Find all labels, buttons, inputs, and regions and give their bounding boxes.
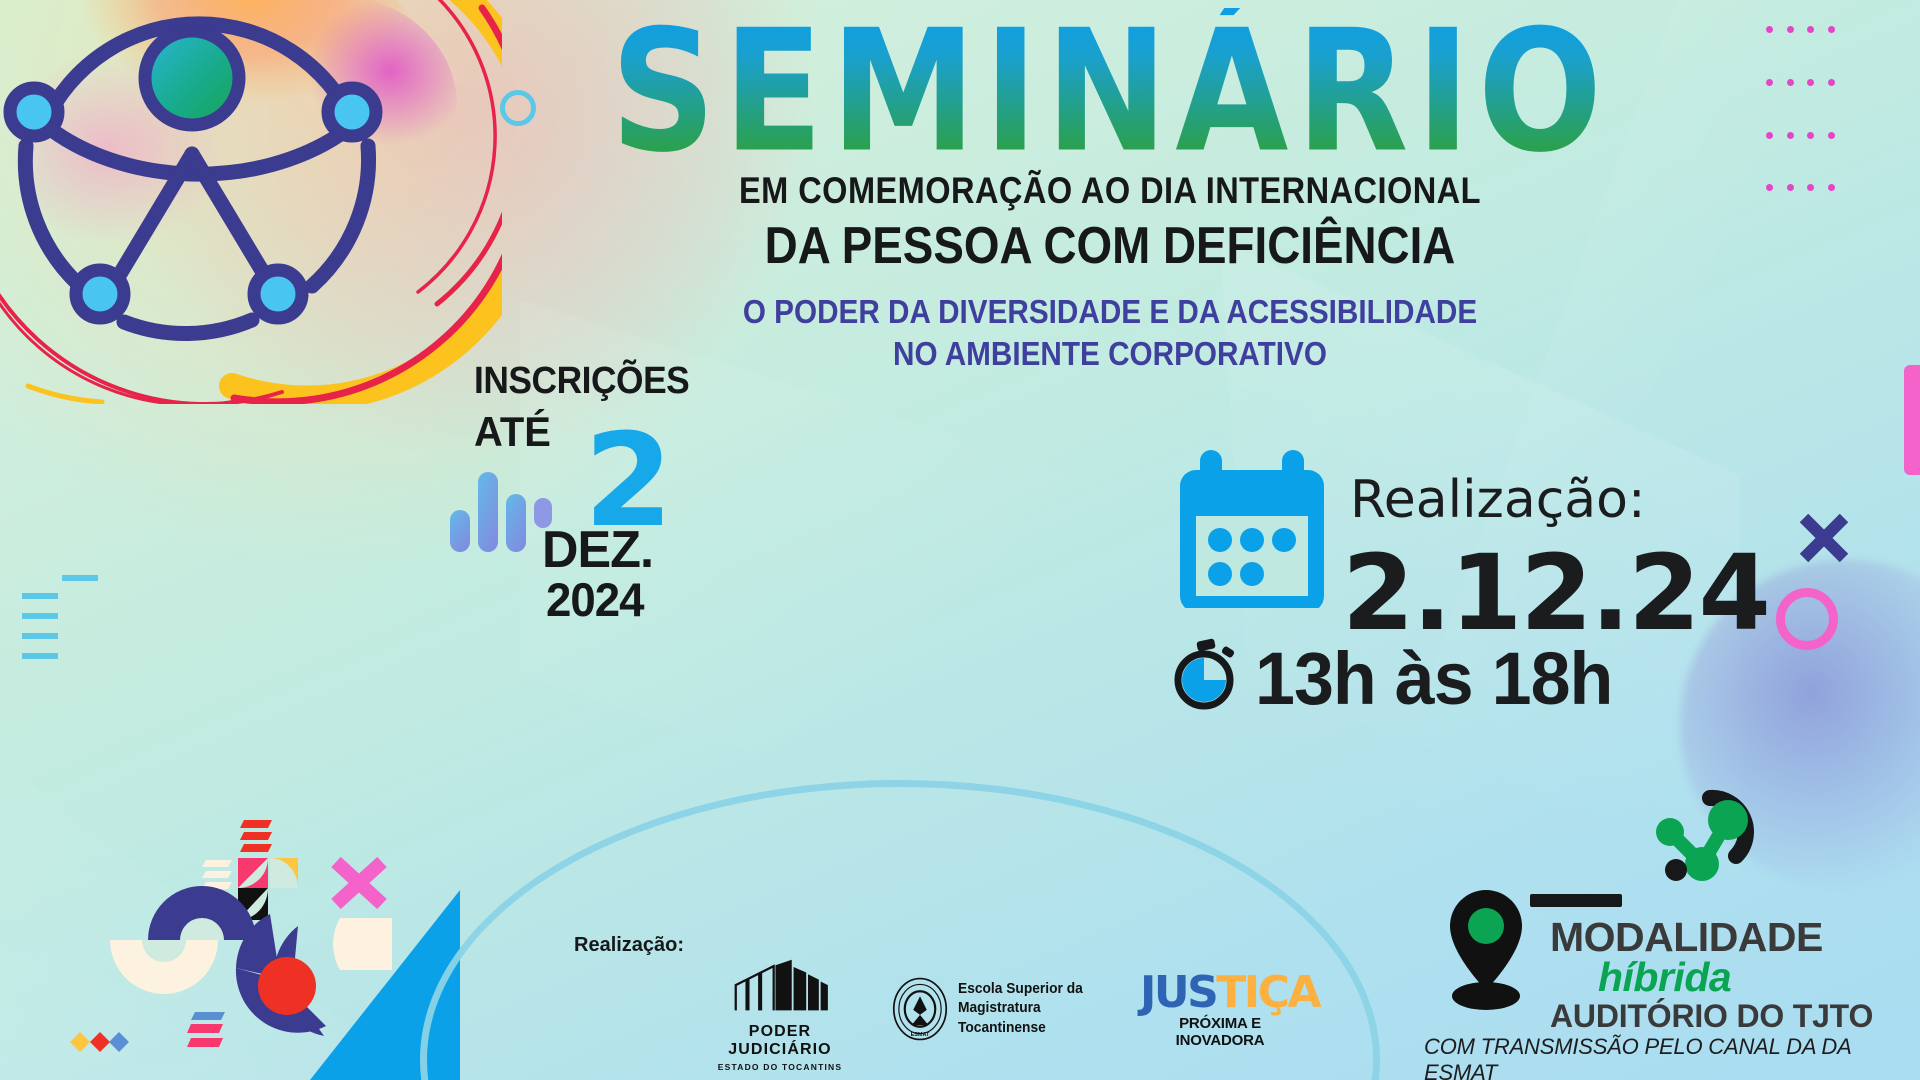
accessibility-network-icon <box>0 0 502 404</box>
location-pin-icon <box>1438 884 1534 1014</box>
poder-judiciario-subtitle: ESTADO DO TOCANTINS <box>700 1062 860 1072</box>
registration-year: 2024 <box>546 572 644 627</box>
stopwatch-icon <box>1170 638 1242 710</box>
modality-line-2: híbrida <box>1598 954 1731 1001</box>
realizacao-label: Realização: <box>1350 470 1646 530</box>
justica-wordmark: JUSTIÇA <box>1140 972 1300 1014</box>
registration-deadline-block: INSCRIÇÕES ATÉ 2 DEZ. 2024 <box>452 360 782 620</box>
registration-label-line-1: INSCRIÇÕES <box>474 360 689 403</box>
esmat-label-line-2: Magistratura Tocantinense <box>958 999 1131 1038</box>
justica-subtitle: PRÓXIMA E INOVADORA <box>1140 1015 1300 1049</box>
dot-grid-decoration <box>1766 26 1836 226</box>
esmat-label: Escola Superior da Magistratura Tocantin… <box>958 980 1131 1039</box>
page-title: SEMINÁRIO <box>527 8 1693 176</box>
footer-realizacao-label: Realização: <box>574 934 684 957</box>
title-block: SEMINÁRIO EM COMEMORAÇÃO AO DIA INTERNAC… <box>560 8 1660 375</box>
divider-dash <box>1530 894 1622 907</box>
subtitle-line-2: DA PESSOA COM DEFICIÊNCIA <box>626 216 1594 276</box>
justica-word-part-2: TIÇA <box>1216 967 1319 1018</box>
poster-canvas: SEMINÁRIO EM COMEMORAÇÃO AO DIA INTERNAC… <box>0 0 1920 1080</box>
event-time: 13h às 18h <box>1255 636 1612 721</box>
x-mark-shape <box>1796 510 1852 566</box>
calendar-icon <box>1170 448 1335 608</box>
modality-venue: AUDITÓRIO DO TJTO <box>1550 998 1873 1035</box>
registration-month: DEZ. <box>542 520 653 580</box>
svg-text:ESMAT: ESMAT <box>911 1032 930 1038</box>
justica-word-part-1: JUS <box>1140 967 1216 1018</box>
esmat-seal-icon: ESMAT <box>890 976 950 1042</box>
share-network-icon <box>1640 786 1772 908</box>
modality-block: MODALIDADE híbrida AUDITÓRIO DO TJTO COM… <box>1422 786 1902 1066</box>
modality-note: COM TRANSMISSÃO PELO CANAL DA DA ESMAT <box>1424 1034 1902 1080</box>
courthouse-icon <box>720 958 840 1014</box>
footer-logos: Realização: PODER JUDICIÁRIO ESTADO DO T… <box>560 920 1300 1080</box>
rounded-tab-shape <box>1904 365 1920 475</box>
diagonal-lines-decoration <box>18 570 108 680</box>
esmat-label-line-1: Escola Superior da <box>958 980 1131 1000</box>
subtitle-line-1: EM COMEMORAÇÃO AO DIA INTERNACIONAL <box>626 170 1594 212</box>
circle-outline-shape <box>1776 588 1838 650</box>
logo-poder-judiciario: PODER JUDICIÁRIO ESTADO DO TOCANTINS <box>700 958 860 1072</box>
registration-label-line-2: ATÉ <box>474 408 551 456</box>
poder-judiciario-title: PODER JUDICIÁRIO <box>700 1023 860 1059</box>
logo-justica: JUSTIÇA PRÓXIMA E INOVADORA <box>1140 972 1300 1049</box>
logo-esmat: ESMAT Escola Superior da Magistratura To… <box>890 976 1140 1042</box>
theme-line-1: O PODER DA DIVERSIDADE E DA ACESSIBILIDA… <box>615 292 1605 332</box>
event-datetime-block: Realização: 2.12.24 13h às 18h <box>1150 440 1710 720</box>
